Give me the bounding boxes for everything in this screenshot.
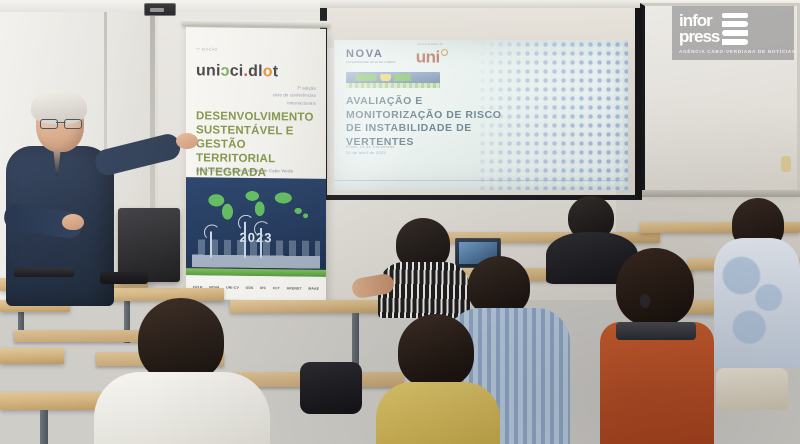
wordmark-dot-3: o — [263, 63, 273, 80]
attendee-head — [468, 256, 530, 316]
attendee-head — [398, 314, 474, 388]
inforpress-watermark: infor press AGÊNCIA CABO-VERDIANA DE NOT… — [672, 6, 794, 60]
watermark-text: infor press — [679, 13, 719, 44]
slide-banner-thumbnail — [346, 72, 440, 88]
slide-footer-line-2: 20 de abril de 2023 — [346, 150, 466, 156]
glasses-icon — [40, 119, 82, 127]
slide-footer: Praia, 14 de Conversão 20 de abril de 20… — [346, 144, 466, 156]
whiteboard-knob — [781, 156, 791, 172]
rollup-banner: 7ª EDIÇÃO uniɔci.dlot 7ª edição ciclo de… — [186, 27, 326, 301]
unicv-logo-text: uni — [416, 48, 440, 67]
world-map-graphic — [194, 183, 318, 225]
nova-logo: NOVA UNIVERSIDADE NOVA DE LISBOA — [346, 49, 396, 65]
wind-turbine-icon-2 — [244, 222, 246, 258]
wind-turbine-icon-1 — [210, 231, 212, 257]
whiteboard-tray — [640, 190, 800, 197]
slide-title: AVALIAÇÃO E MONITORIZAÇÃO DE RISCO DE IN… — [346, 95, 518, 150]
banner-kicker: 7ª EDIÇÃO — [196, 47, 217, 51]
slide-logo-row: NOVA UNIVERSIDADE NOVA DE LISBOA univers… — [346, 49, 448, 65]
wordmark-part-4: t — [273, 63, 279, 80]
attendee-torso — [94, 372, 270, 444]
nova-logo-sub: UNIVERSIDADE NOVA DE LISBOA — [346, 62, 396, 65]
banner-subtitle: 7ª edição ciclo de conferências internac… — [246, 84, 316, 107]
air-conditioner-icon — [144, 3, 176, 16]
presentation-slide: NOVA UNIVERSIDADE NOVA DE LISBOA univers… — [334, 40, 628, 190]
attendee-torso — [600, 322, 714, 444]
earring-icon — [640, 294, 650, 308]
bench — [14, 330, 154, 342]
desk-leg — [40, 410, 48, 444]
presenter-right-hand — [176, 133, 198, 149]
desk-leg — [352, 313, 359, 365]
wind-turbine-icon-3 — [260, 228, 262, 258]
backpack — [300, 362, 362, 414]
handbag — [716, 368, 788, 410]
keyboard — [14, 268, 74, 277]
unicv-logo: universidade de uni — [416, 49, 448, 64]
watermark-tagline: AGÊNCIA CABO-VERDIANA DE NOTÍCIAS — [679, 49, 787, 54]
wordmark-part-1: uni — [196, 62, 221, 79]
watermark-line-2: press — [679, 29, 719, 45]
inforpress-swirl-icon — [722, 12, 748, 46]
desk — [0, 348, 64, 364]
banner-artwork: 2023 — [186, 177, 326, 277]
banner-wordmark: uniɔci.dlot — [196, 63, 278, 80]
wordmark-dot-1: ɔ — [221, 63, 230, 80]
av-equipment-cabinet — [118, 208, 180, 282]
wordmark-part-3: dl — [248, 63, 263, 80]
banner-subtitle-line-3: internacionais — [246, 99, 316, 107]
presenter-left-hand — [62, 214, 84, 230]
attendee-head — [138, 298, 224, 382]
attendee-torso — [376, 382, 500, 444]
wordmark-part-2: ci — [230, 63, 244, 80]
nova-logo-text: NOVA — [346, 48, 383, 60]
dress-floral-pattern — [718, 248, 796, 358]
laptop-closed — [100, 272, 148, 284]
desk — [104, 288, 224, 301]
attendee-head — [616, 248, 694, 326]
unicv-logo-ring-icon — [441, 49, 448, 56]
watermark-row: infor press — [679, 12, 787, 46]
unicv-logo-kicker: universidade de — [418, 43, 444, 45]
desk — [230, 300, 400, 313]
conference-photo: NOVA UNIVERSIDADE NOVA DE LISBOA univers… — [0, 0, 800, 444]
slide-rule — [334, 180, 628, 181]
bag-strap — [616, 322, 696, 340]
